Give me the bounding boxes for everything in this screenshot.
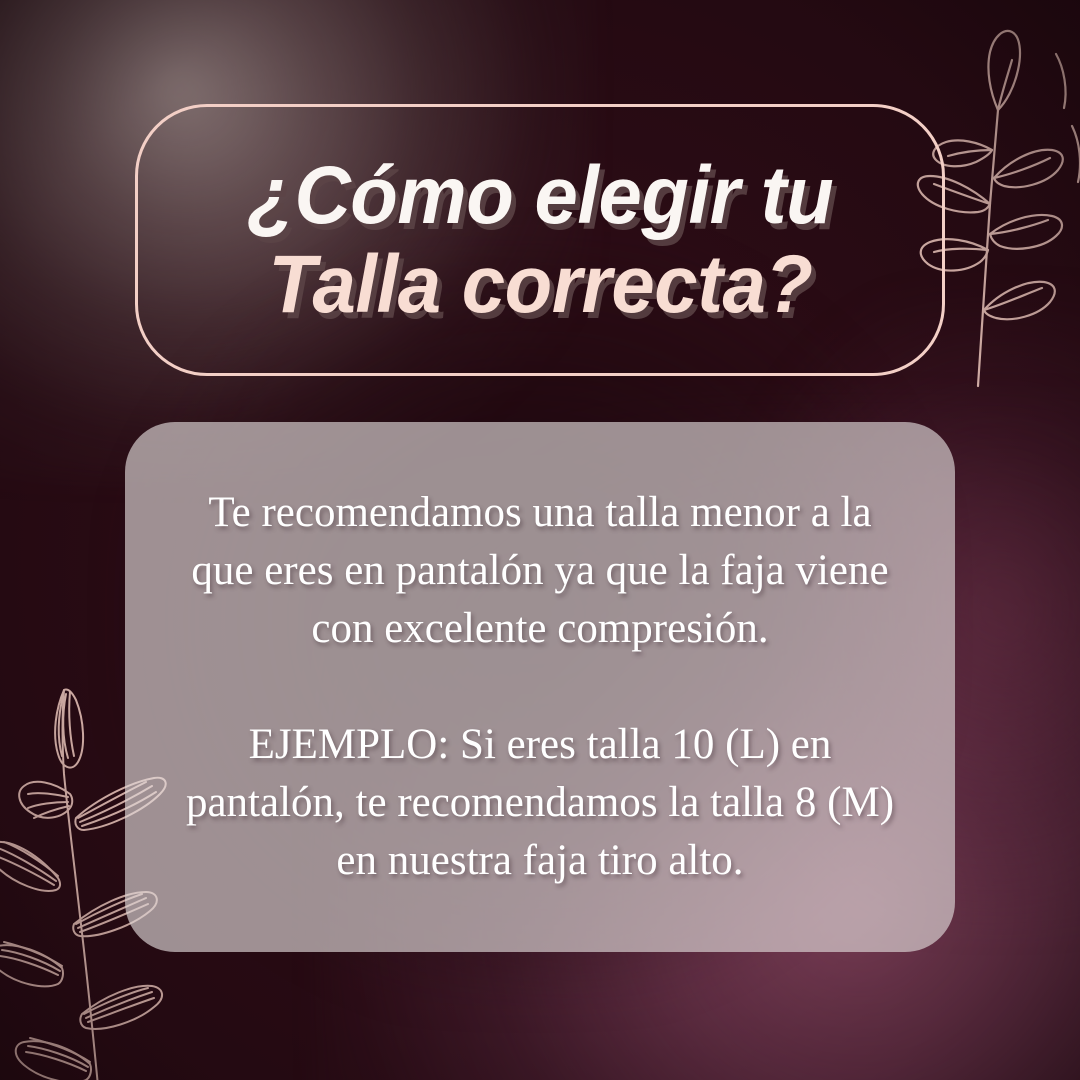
page-title-line-1: ¿Cómo elegir tu (247, 153, 833, 238)
size-advice-card: Te recomendamos una talla menor a la que… (125, 422, 955, 952)
advice-paragraph-recommendation: Te recomendamos una talla menor a la que… (180, 484, 900, 658)
page-title-line-2: Talla correcta? (268, 242, 812, 327)
size-guide-poster: ¿Cómo elegir tu Talla correcta? Te recom… (0, 0, 1080, 1080)
title-frame: ¿Cómo elegir tu Talla correcta? (135, 104, 945, 376)
advice-paragraph-example: EJEMPLO: Si eres talla 10 (L) en pantaló… (180, 716, 900, 890)
